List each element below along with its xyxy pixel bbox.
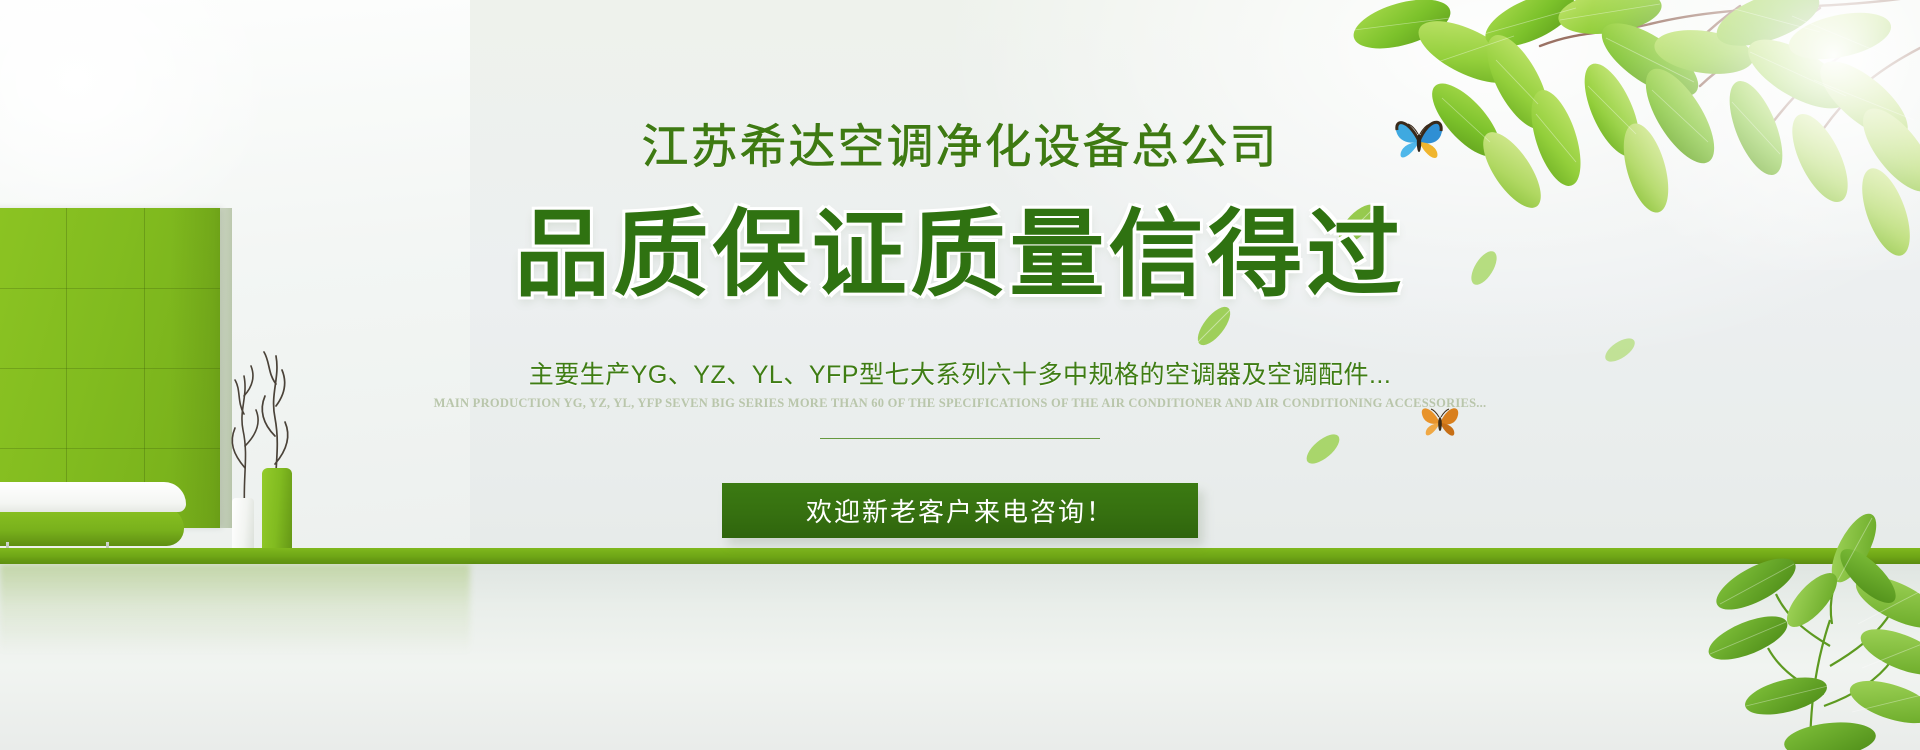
product-description-cn: 主要生产YG、YZ、YL、YFP型七大系列六十多中规格的空调器及空调配件... (0, 355, 1920, 391)
contact-cta-button[interactable]: 欢迎新老客户来电咨询！ (722, 483, 1198, 538)
company-name: 江苏希达空调净化设备总公司 (0, 108, 1920, 177)
floor-reflection (0, 564, 470, 684)
promotional-banner: 江苏希达空调净化设备总公司 品质保证质量信得过 主要生产YG、YZ、YL、YFP… (0, 0, 1920, 750)
divider-rule (820, 438, 1100, 439)
product-description-en: MAIN PRODUCTION YG, YZ, YL, YFP SEVEN BI… (0, 396, 1920, 411)
green-sofa (0, 482, 186, 550)
potted-plant (1580, 456, 1920, 750)
headline-slogan: 品质保证质量信得过 (0, 178, 1920, 315)
cta-container: 欢迎新老客户来电咨询！ (722, 483, 1198, 538)
falling-leaf-3 (1300, 426, 1346, 472)
